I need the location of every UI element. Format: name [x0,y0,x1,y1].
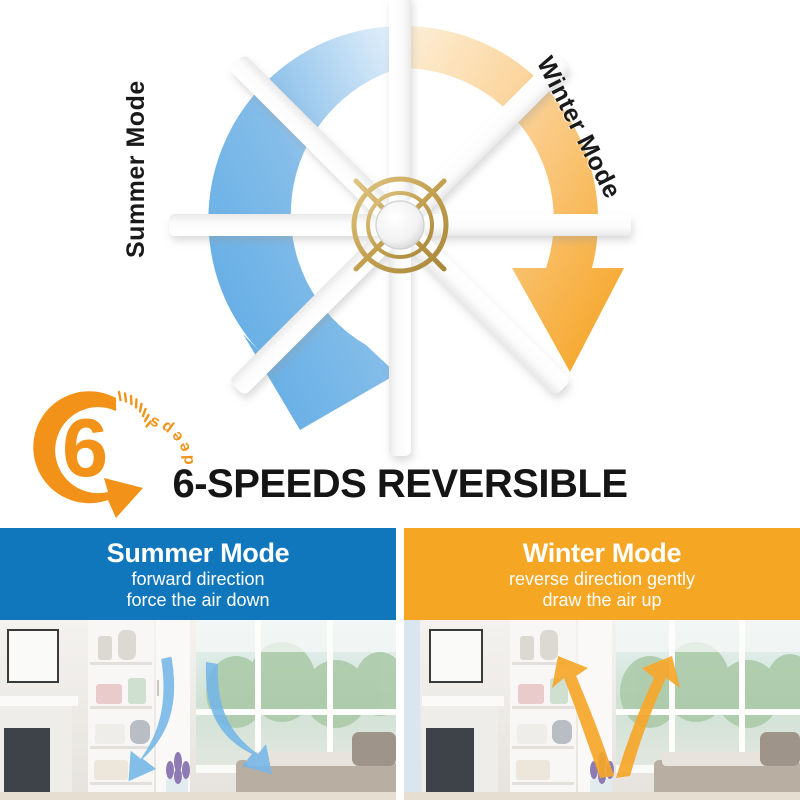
winter-mode-photo [404,620,800,800]
summer-banner-line1: forward direction [0,569,396,590]
summer-banner-line2: force the air down [0,590,396,611]
winter-banner-line2: draw the air up [404,590,800,611]
fan-hub [338,163,462,287]
winter-airflow-arrows [404,620,800,800]
summer-airflow-arrows [0,620,396,800]
page-title: 6-SPEEDS REVERSIBLE [0,462,800,507]
summer-mode-arc-label: Summer Mode [122,80,151,258]
winter-mode-banner: Winter Mode reverse direction gently dra… [404,528,800,620]
fan-diagram-area: Summer Mode Winter Mode 6 speed 6-SPEEDS… [0,0,800,528]
summer-banner-title: Summer Mode [0,537,396,569]
winter-banner-line1: reverse direction gently [404,569,800,590]
summer-mode-photo [0,620,396,800]
summer-mode-banner: Summer Mode forward direction force the … [0,528,396,620]
winter-banner-title: Winter Mode [404,537,800,569]
